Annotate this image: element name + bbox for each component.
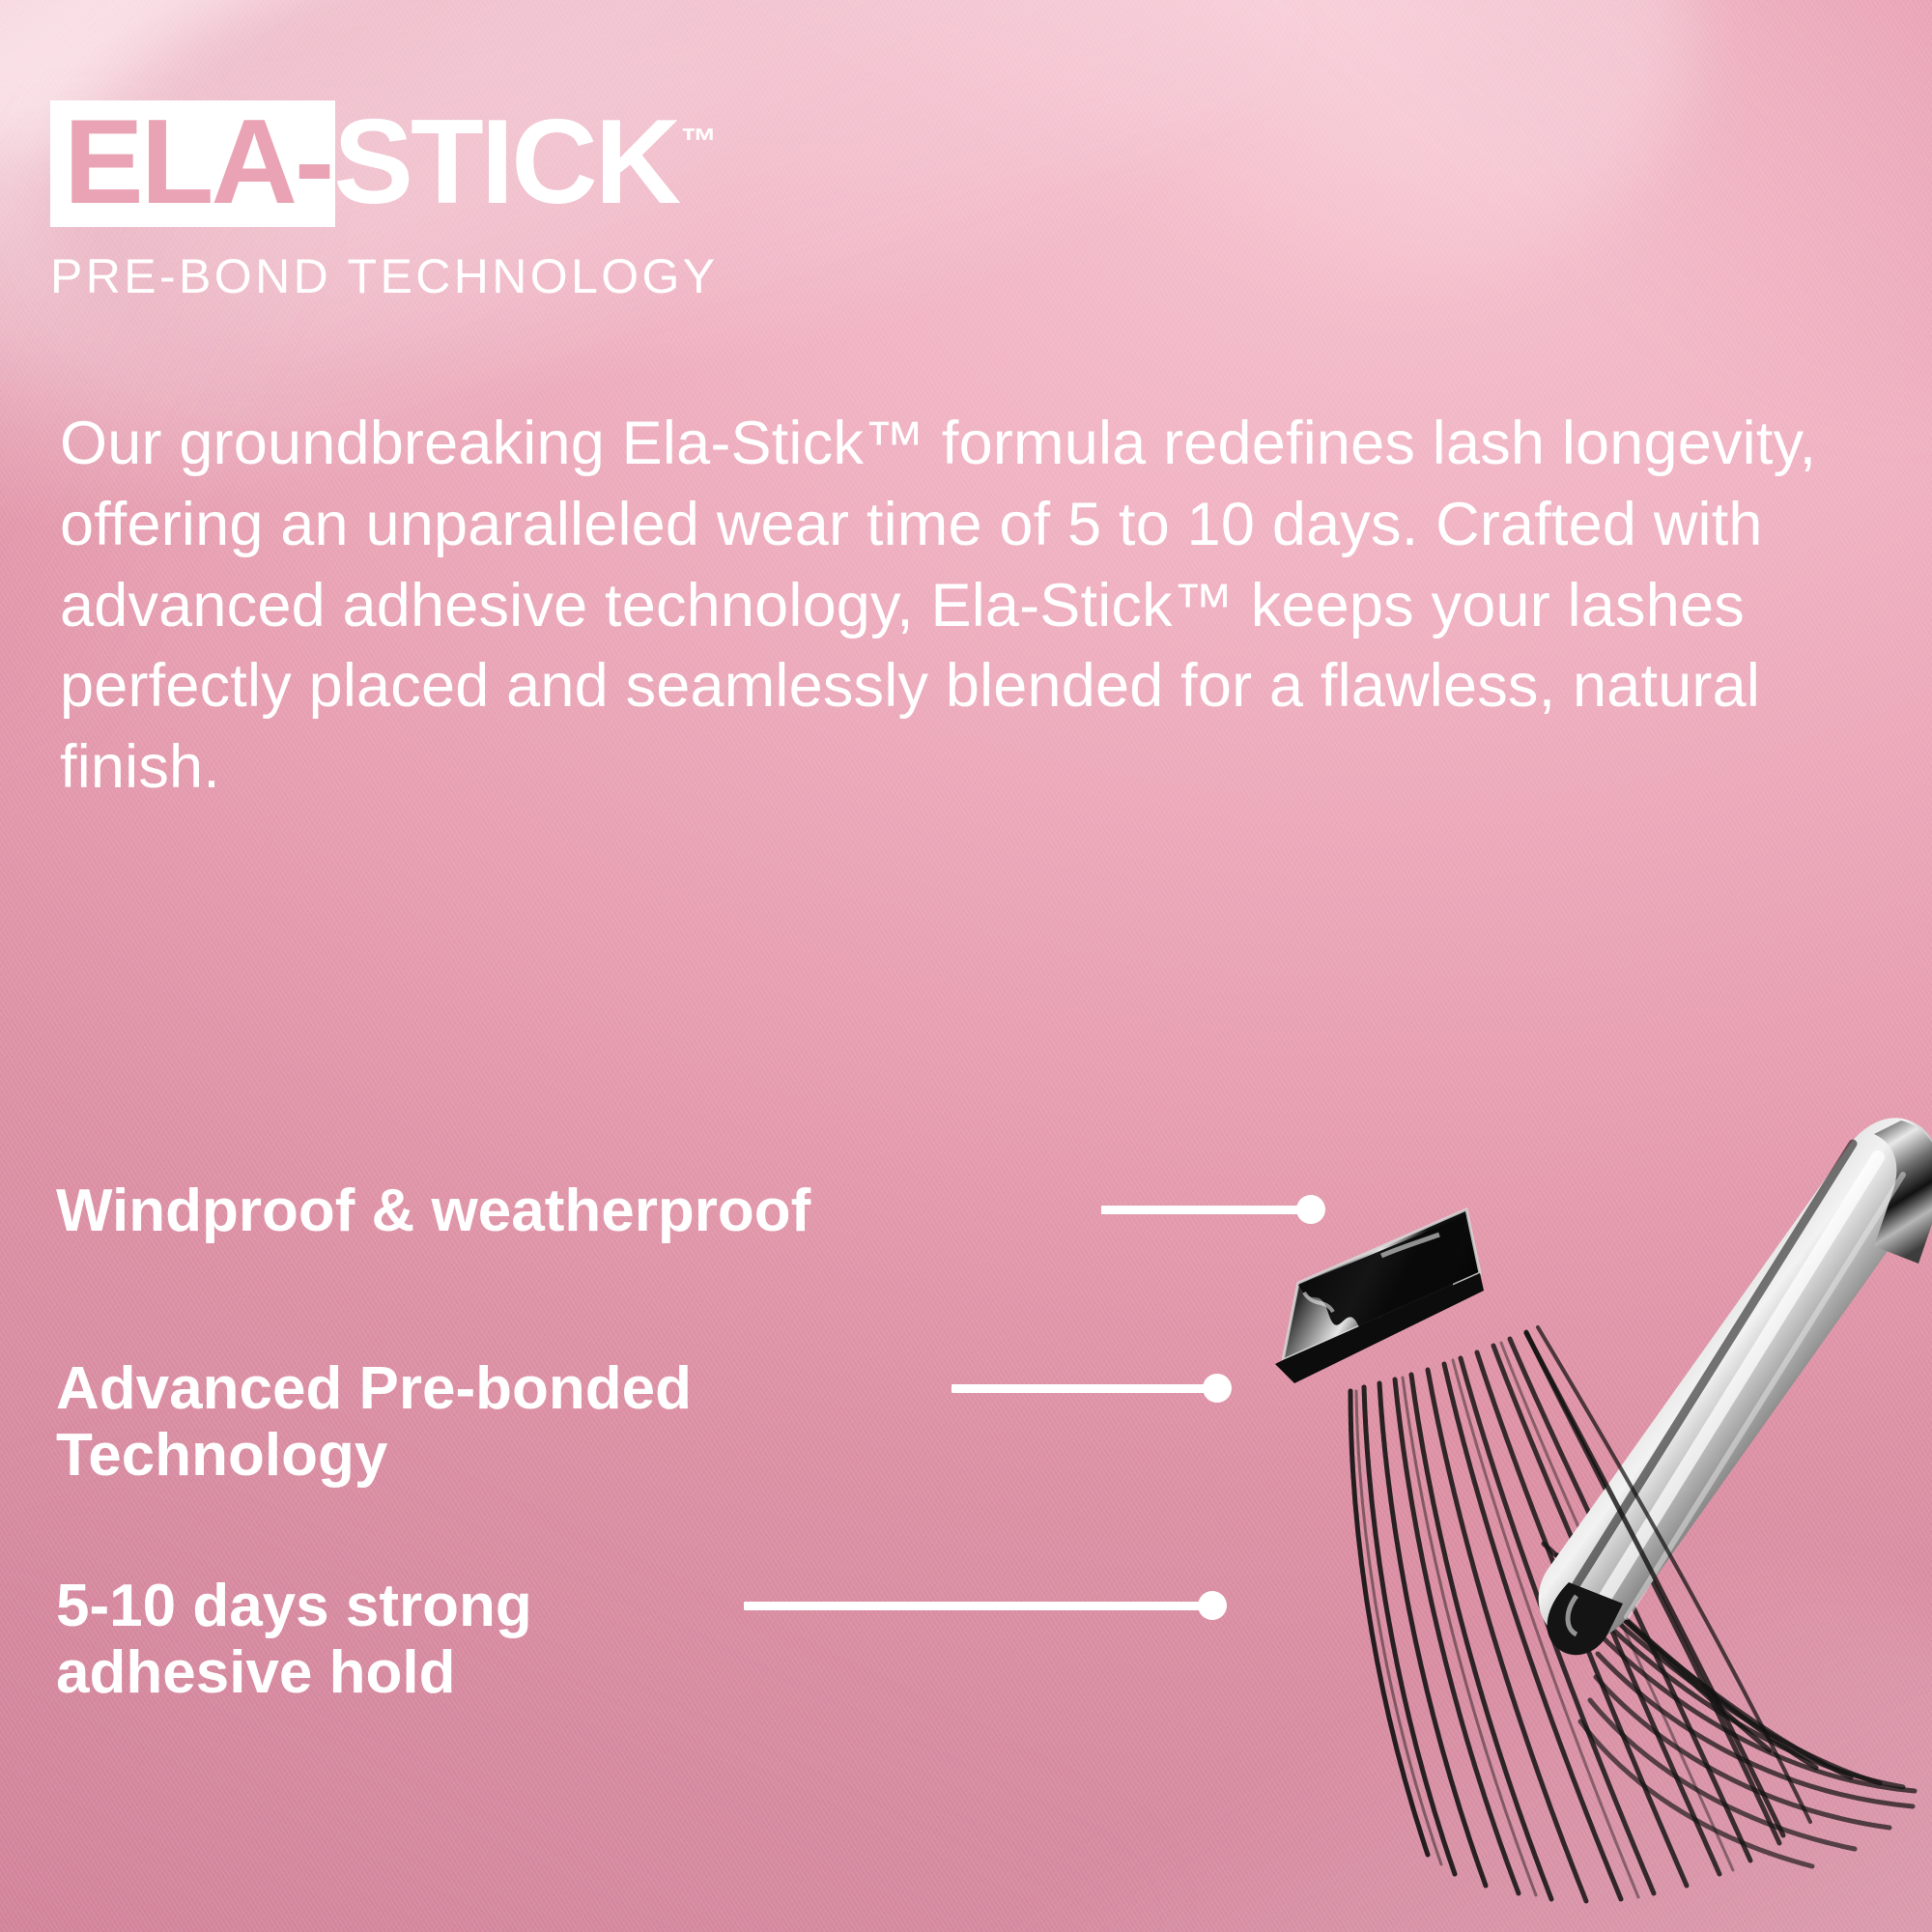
product-image-tweezers-lash-cluster [1236,1101,1932,1932]
brand-logo: ELA- STICK ™ PRE-BOND TECHNOLOGY [50,100,719,304]
feature-label: Advanced Pre-bonded Technology [56,1355,692,1490]
feature-connector-line [744,1592,1227,1619]
feature-label: 5-10 days strong adhesive hold [56,1573,532,1707]
brand-logo-box: ELA- [50,100,335,227]
connector-line [744,1602,1200,1610]
connector-line [1101,1206,1298,1214]
feature-connector-line [1101,1196,1325,1223]
brand-logo-stick: STICK [333,116,678,210]
lash-fibres-foreground [1526,1327,1810,1835]
brand-logo-ela: ELA- [64,116,331,210]
lash-fibres-right [1544,1544,1915,1866]
connector-dot-icon [1203,1374,1232,1403]
tweezer-tool [1539,1118,1932,1655]
connector-dot-icon [1296,1195,1325,1224]
brand-logo-wordmark: ELA- STICK ™ [50,100,719,227]
trademark-symbol: ™ [680,122,717,163]
feature-label: Windproof & weatherproof [56,1178,810,1244]
description-paragraph: Our groundbreaking Ela-Stick™ formula re… [60,404,1876,809]
lash-adhesive-band [1275,1209,1484,1383]
brand-tagline: PRE-BOND TECHNOLOGY [50,248,719,304]
connector-dot-icon [1198,1591,1227,1620]
feature-connector-line [952,1375,1232,1402]
lash-fibres [1350,1332,1779,1901]
connector-line [952,1384,1205,1393]
